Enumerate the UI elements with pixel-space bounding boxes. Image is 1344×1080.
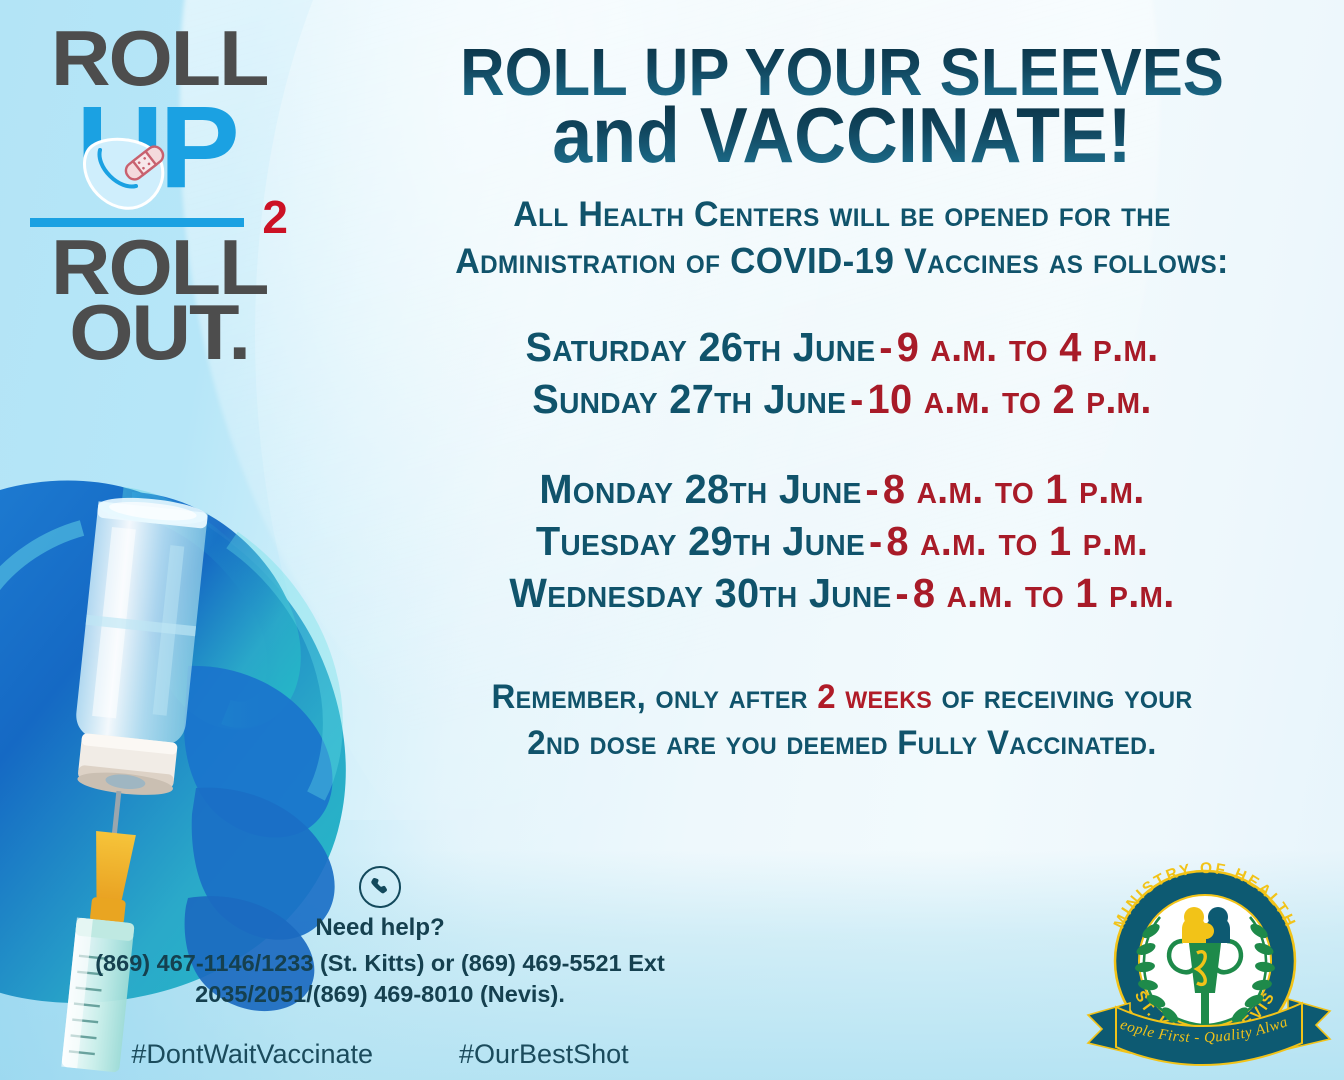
schedule-time: 10 a.m. to 2 p.m.	[868, 376, 1152, 422]
remember-line-1-post: of receiving your	[932, 678, 1192, 716]
schedule-row: Sunday 27th June-10 a.m. to 2 p.m.	[355, 373, 1329, 425]
schedule-dash: -	[865, 518, 886, 564]
hashtag-row: #DontWaitVaccinate #OurBestShot	[40, 1039, 720, 1070]
subheading-line-2-pre: Administration of	[455, 242, 730, 281]
headline-line-2: and VACCINATE!	[380, 100, 1304, 172]
schedule-dash: -	[846, 376, 867, 422]
roll-up-2-roll-out-logo: ROLL UP 2 ROLL OUT.	[20, 26, 292, 366]
schedule-time: 9 a.m. to 4 p.m.	[897, 324, 1159, 370]
schedule-row: Tuesday 29th June-8 a.m. to 1 p.m.	[355, 515, 1329, 567]
shoulder-bandage-icon	[78, 130, 188, 212]
subheading-line-2: Administration of COVID-19 Vaccines as f…	[355, 238, 1329, 285]
schedule-day: Monday 28th June	[539, 466, 861, 512]
schedule-day: Saturday 26th June	[525, 324, 875, 370]
schedule-row: Saturday 26th June-9 a.m. to 4 p.m.	[355, 321, 1329, 373]
schedule-day: Wednesday 30th June	[509, 570, 891, 616]
schedule-day: Sunday 27th June	[532, 376, 846, 422]
hashtag-our-best-shot: #OurBestShot	[459, 1039, 629, 1070]
phone-numbers-line-2: 2035/2051/(869) 469-8010 (Nevis).	[40, 979, 720, 1010]
phone-icon-ring	[359, 866, 401, 908]
schedule-dash: -	[892, 570, 913, 616]
subheading: All Health Centers will be opened for th…	[355, 193, 1329, 285]
subheading-covid-label: COVID-19	[730, 240, 894, 281]
subheading-line-2-post: Vaccines as follows:	[894, 242, 1228, 281]
phone-numbers-line-1: (869) 467-1146/1233 (St. Kitts) or (869)…	[40, 948, 720, 979]
logo-line-out: OUT.	[12, 300, 300, 366]
remember-line-1-pre: Remember, only after	[491, 678, 817, 716]
schedule-day: Tuesday 29th June	[536, 518, 865, 564]
remember-line-1: Remember, only after 2 weeks of receivin…	[355, 675, 1329, 721]
contact-block: Need help? (869) 467-1146/1233 (St. Kitt…	[40, 866, 720, 1070]
remember-highlight-two-weeks: 2 weeks	[817, 678, 932, 716]
schedule-row: Wednesday 30th June-8 a.m. to 1 p.m.	[355, 567, 1329, 619]
ministry-of-health-seal: MINISTRY OF HEALTH ST. KITTS & NEVIS	[1084, 843, 1334, 1068]
remember-note: Remember, only after 2 weeks of receivin…	[355, 675, 1329, 767]
schedule-list: Saturday 26th June-9 a.m. to 4 p.m. Sund…	[340, 321, 1344, 619]
schedule-dash: -	[862, 466, 883, 512]
subheading-line-1: All Health Centers will be opened for th…	[355, 193, 1329, 238]
schedule-spacer	[340, 425, 1344, 463]
phone-handset-icon	[368, 875, 392, 899]
logo-up-group: UP 2	[20, 94, 292, 212]
schedule-dash: -	[875, 324, 896, 370]
schedule-time: 8 a.m. to 1 p.m.	[883, 466, 1145, 512]
hashtag-dont-wait-vaccinate: #DontWaitVaccinate	[131, 1039, 373, 1070]
schedule-time: 8 a.m. to 1 p.m.	[886, 518, 1148, 564]
schedule-time: 8 a.m. to 1 p.m.	[913, 570, 1175, 616]
poster-root: ROLL UP 2 ROLL OUT.	[0, 0, 1344, 1080]
remember-line-2: 2nd dose are you deemed Fully Vaccinated…	[355, 721, 1329, 767]
schedule-row: Monday 28th June-8 a.m. to 1 p.m.	[355, 463, 1329, 515]
need-help-label: Need help?	[40, 914, 720, 942]
